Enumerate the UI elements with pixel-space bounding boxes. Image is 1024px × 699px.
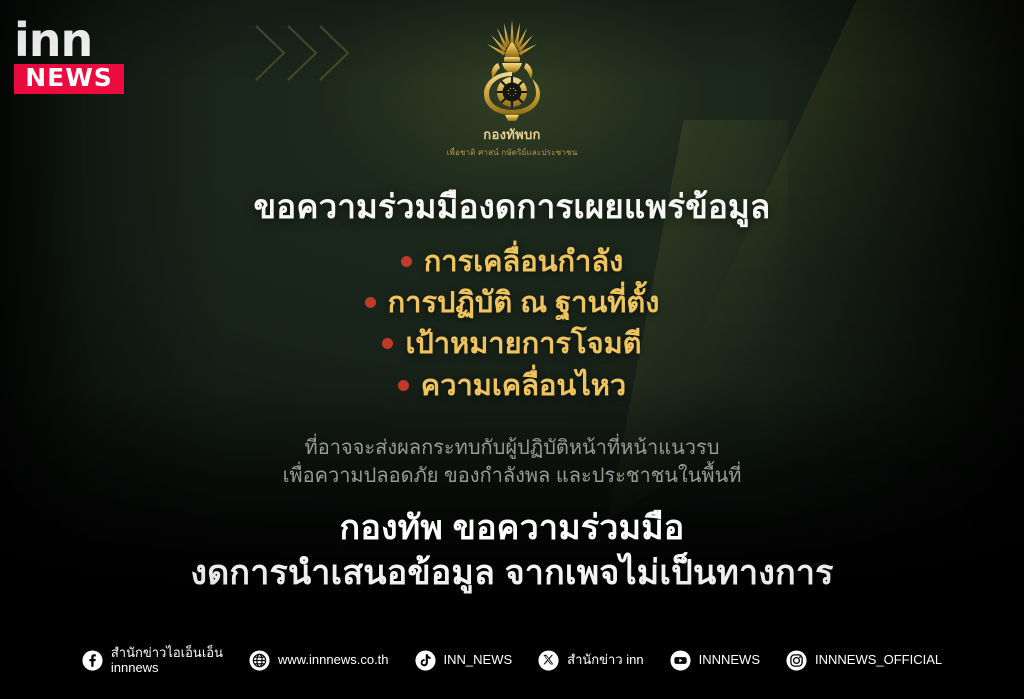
social-item-tiktok[interactable]: INN_NEWS (415, 650, 513, 671)
main-headline-line-1: กองทัพ ขอความร่วมมือ (0, 506, 1024, 551)
supporting-note: ที่อาจจะส่งผลกระทบกับผู้ปฏิบัติหน้าที่หน… (0, 434, 1024, 491)
tiktok-icon (415, 650, 436, 671)
bullet-dot-icon (382, 338, 393, 349)
list-item: เป้าหมายการโจมตี (0, 324, 1024, 365)
social-label: INNNEWS (699, 652, 760, 667)
social-item-x[interactable]: สำนักข่าว inn (538, 650, 643, 671)
emblem-name: กองทัพบก (0, 124, 1024, 145)
main-headline-line-2: งดการนำเสนอข้อมูล จากเพจไม่เป็นทางการ (0, 551, 1024, 596)
royal-thai-army-emblem-icon (464, 18, 560, 122)
social-label-line-2: innnews (111, 660, 223, 675)
bullet-dot-icon (365, 297, 376, 308)
social-item-website[interactable]: www.innnews.co.th (249, 650, 389, 671)
instagram-icon (786, 650, 807, 671)
poster-canvas: inn NEWS (0, 0, 1024, 699)
list-item-label: เป้าหมายการโจมตี (405, 328, 641, 360)
social-footer-bar: สำนักข่าวไอเอ็นเอ็น innnews www.innnews.… (0, 621, 1024, 699)
request-title: ขอความร่วมมืองดการเผยแพร่ข้อมูล (0, 180, 1024, 233)
list-item: การเคลื่อนกำลัง (0, 242, 1024, 283)
globe-icon (249, 650, 270, 671)
social-label: INN_NEWS (444, 652, 513, 667)
emblem-motto: เพื่อชาติ ศาสน์ กษัตริย์และประชาชน (0, 146, 1024, 159)
list-item: ความเคลื่อนไหว (0, 366, 1024, 407)
bullet-dot-icon (401, 256, 412, 267)
main-headline: กองทัพ ขอความร่วมมือ งดการนำเสนอข้อมูล จ… (0, 506, 1024, 596)
supporting-note-line-2: เพื่อความปลอดภัย ของกำลังพล และประชาชนใน… (0, 462, 1024, 490)
social-item-youtube[interactable]: INNNEWS (670, 650, 760, 671)
restricted-topic-list: การเคลื่อนกำลัง การปฏิบัติ ณ ฐานที่ตั้ง … (0, 242, 1024, 407)
list-item-label: การปฏิบัติ ณ ฐานที่ตั้ง (388, 287, 660, 319)
social-label: INNNEWS_OFFICIAL (815, 652, 942, 667)
army-emblem-block: กองทัพบก เพื่อชาติ ศาสน์ กษัตริย์และประช… (0, 18, 1024, 159)
social-item-facebook[interactable]: สำนักข่าวไอเอ็นเอ็น innnews (82, 645, 223, 676)
youtube-icon (670, 650, 691, 671)
list-item: การปฏิบัติ ณ ฐานที่ตั้ง (0, 283, 1024, 324)
social-label: สำนักข่าวไอเอ็นเอ็น innnews (111, 645, 223, 676)
list-item-label: การเคลื่อนกำลัง (424, 246, 624, 278)
social-item-instagram[interactable]: INNNEWS_OFFICIAL (786, 650, 942, 671)
bullet-dot-icon (398, 380, 409, 391)
x-twitter-icon (538, 650, 559, 671)
facebook-icon (82, 650, 103, 671)
social-label-line-1: สำนักข่าวไอเอ็นเอ็น (111, 645, 223, 660)
social-label: www.innnews.co.th (278, 652, 389, 667)
supporting-note-line-1: ที่อาจจะส่งผลกระทบกับผู้ปฏิบัติหน้าที่หน… (0, 434, 1024, 462)
list-item-label: ความเคลื่อนไหว (421, 370, 626, 402)
social-label: สำนักข่าว inn (567, 652, 643, 667)
